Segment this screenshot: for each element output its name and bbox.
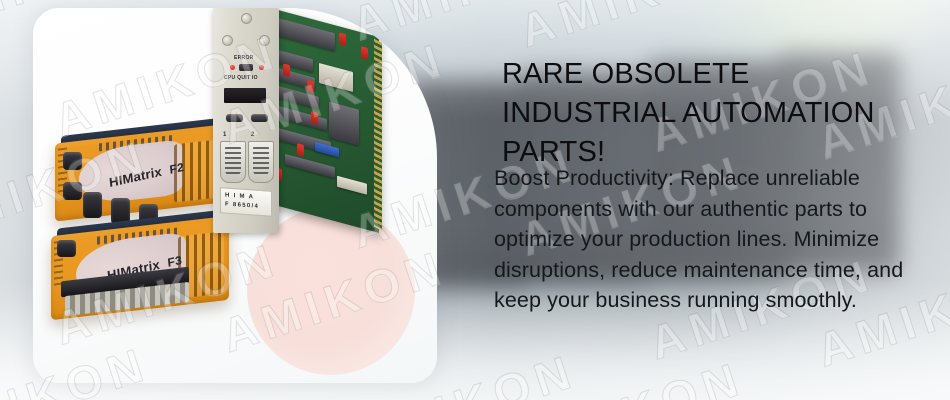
- product-himatrix-f3: HIMatrix F3: [51, 226, 229, 310]
- tag-model-text: F 8650/4: [225, 201, 271, 213]
- capacitor: [307, 80, 314, 94]
- db9-port-1: [220, 141, 246, 183]
- capacitor: [361, 46, 368, 60]
- pcb-component-cluster: [267, 8, 379, 233]
- module-connector: [57, 240, 76, 257]
- module-connector: [63, 152, 82, 170]
- port-1-number: 1: [223, 132, 226, 138]
- card-model-tag: H I M A F 8650/4: [220, 187, 272, 217]
- screw-icon: [222, 35, 233, 46]
- card-faceplate: ERROR CPU QUIT IO 1 2 H I M A F 8650/4: [213, 8, 279, 233]
- port-2-number: 2: [251, 132, 254, 138]
- toggle-switch: [226, 114, 243, 122]
- status-labels: CPU QUIT IO: [224, 75, 258, 81]
- status-led-io: [259, 65, 264, 70]
- ic-chip: [319, 63, 353, 92]
- ic-chip: [279, 18, 335, 51]
- ic-chip: [275, 105, 327, 131]
- screw-icon: [241, 13, 252, 24]
- capacitor: [311, 111, 318, 125]
- status-led-cpu: [230, 65, 235, 70]
- screw-icon: [259, 35, 270, 46]
- display-window: [224, 88, 266, 103]
- quit-switch: [239, 64, 253, 71]
- ic-chip: [285, 154, 335, 178]
- module-connector: [83, 192, 102, 218]
- toggle-switch: [251, 114, 268, 122]
- body-paragraph: Boost Productivity: Replace unreliable c…: [494, 163, 919, 316]
- product-himatrix-f2: HIMatrix F2: [55, 134, 223, 212]
- promo-banner: AMIKON AMIKON AMIKON AMIKON AMIKON AMIKO…: [0, 0, 950, 400]
- db9-port-2: [248, 141, 274, 183]
- dip-switch: [315, 142, 339, 157]
- capacitor: [297, 143, 304, 157]
- capacitor: [283, 63, 290, 77]
- ic-chip: [337, 176, 367, 195]
- page-title: RARE OBSOLETE INDUSTRIAL AUTOMATION PART…: [502, 55, 922, 172]
- product-showcase-panel: HIMatrix F2 HIMatrix F3: [33, 8, 437, 383]
- error-label: ERROR: [234, 55, 254, 61]
- copy-block: RARE OBSOLETE INDUSTRIAL AUTOMATION PART…: [492, 0, 922, 400]
- product-hima-rack-card: ERROR CPU QUIT IO 1 2 H I M A F 8650/4: [205, 8, 380, 243]
- ic-chip: [329, 102, 359, 146]
- module-connector: [63, 182, 82, 200]
- capacitor: [339, 32, 346, 46]
